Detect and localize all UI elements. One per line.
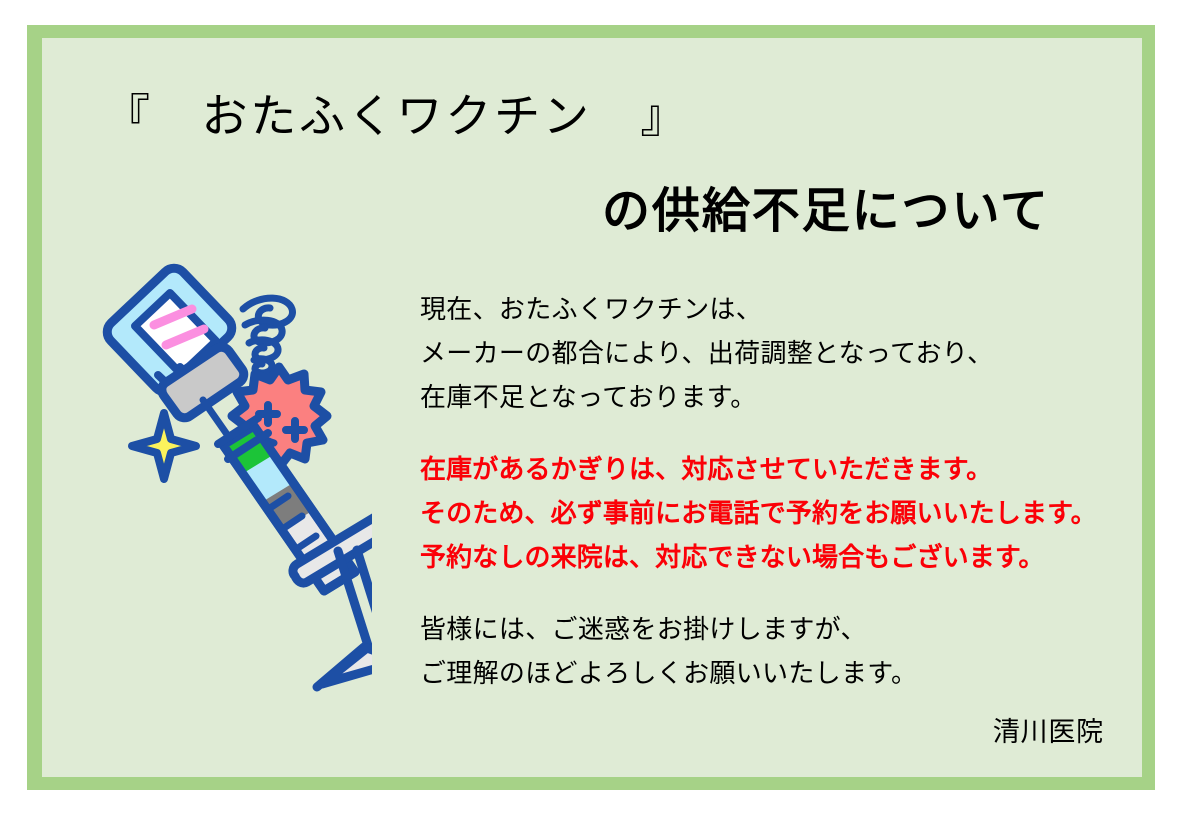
poster-frame: 『 おたふくワクチン 』 の供給不足について xyxy=(27,25,1155,790)
spiral-icon xyxy=(243,298,292,373)
paragraph-closing: 皆様には、ご迷惑をお掛けしますが、 ご理解のほどよろしくお願いいたします。 xyxy=(420,608,1120,696)
paragraph-intro: 現在、おたふくワクチンは、 メーカーの都合により、出荷調整となっており、 在庫不… xyxy=(420,288,1120,420)
syringe-vaccine-illustration xyxy=(102,263,372,693)
illustration-svg xyxy=(102,263,372,693)
body-line: ご理解のほどよろしくお願いいたします。 xyxy=(420,652,1120,696)
notice-body: 現在、おたふくワクチンは、 メーカーの都合により、出荷調整となっており、 在庫不… xyxy=(420,288,1120,696)
body-line-emphasis: そのため、必ず事前にお電話で予約をお願いいたします。 xyxy=(420,492,1120,536)
body-line: メーカーの都合により、出荷調整となっており、 xyxy=(420,332,1120,376)
body-line-emphasis: 予約なしの来院は、対応できない場合もございます。 xyxy=(420,536,1120,580)
page-title-line-1: 『 おたふくワクチン 』 xyxy=(104,80,689,146)
page-title-line-2: の供給不足について xyxy=(602,171,1050,241)
body-line-emphasis: 在庫があるかぎりは、対応させていただきます。 xyxy=(420,448,1120,492)
sparkle-icon xyxy=(132,413,196,479)
body-line: 現在、おたふくワクチンは、 xyxy=(420,288,1120,332)
body-line: 在庫不足となっております。 xyxy=(420,376,1120,420)
paragraph-important: 在庫があるかぎりは、対応させていただきます。 そのため、必ず事前にお電話で予約を… xyxy=(420,448,1120,580)
poster-inner-panel: 『 おたふくワクチン 』 の供給不足について xyxy=(42,38,1142,777)
body-line: 皆様には、ご迷惑をお掛けしますが、 xyxy=(420,608,1120,652)
clinic-signature: 清川医院 xyxy=(993,710,1104,749)
